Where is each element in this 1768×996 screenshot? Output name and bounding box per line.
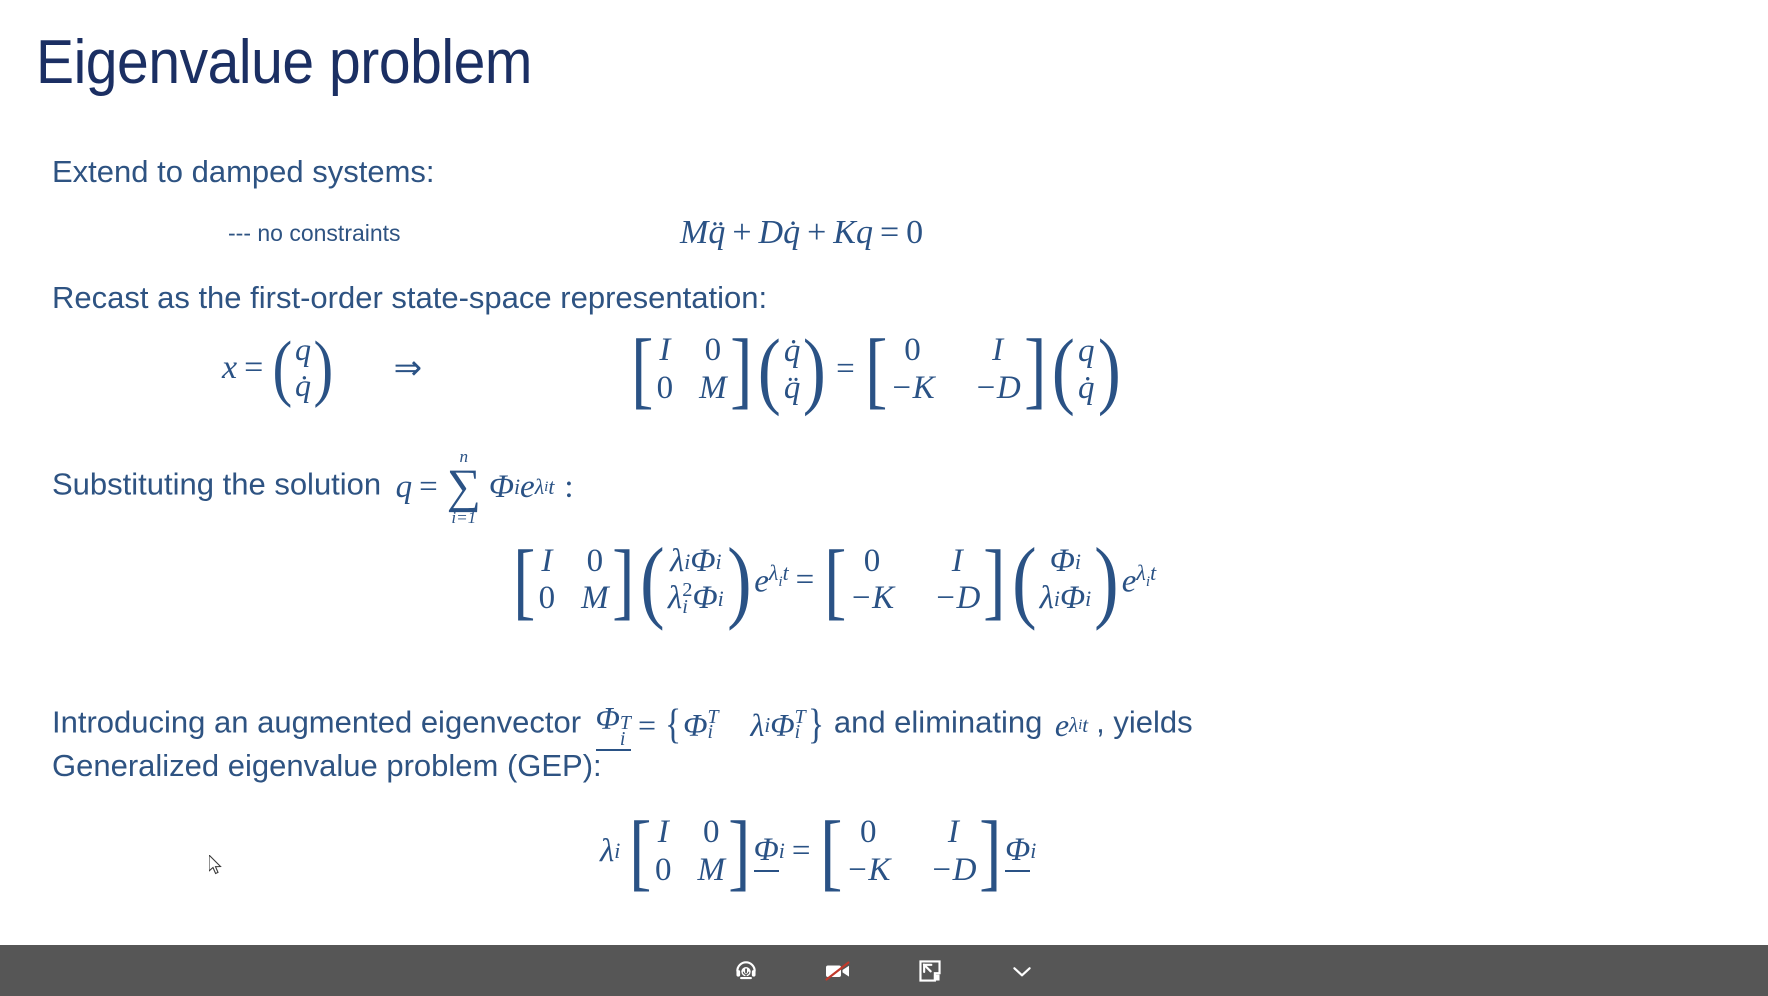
- gep-lhs-m00: I: [658, 814, 669, 852]
- ss-rhs-right-bracket: ]: [1024, 330, 1046, 409]
- implies-arrow: ⇒: [394, 348, 423, 388]
- sub-lhs-e: e: [754, 563, 769, 599]
- sub-rhs-left-bracket: [: [824, 541, 846, 620]
- state-bottom: q̇: [295, 368, 311, 404]
- meeting-toolbar: [0, 945, 1768, 996]
- text-augmented-line: Introducing an augmented eigenvector ΦTi…: [52, 700, 1193, 751]
- sub-rhs-right-bracket: ]: [983, 541, 1005, 620]
- sub-equals: =: [789, 562, 822, 599]
- eom-plus-2: +: [800, 214, 833, 252]
- equation-substituted: [ I 0 0 M ] ( λiΦi λ2iΦi ) eλit =: [510, 538, 1156, 623]
- ss-rhs-matrix: 0 I −K −D: [890, 332, 1020, 407]
- more-options-button[interactable]: [976, 945, 1068, 996]
- eom-D: D: [759, 214, 784, 252]
- aug-brace-close: }: [808, 701, 824, 749]
- gep-lhs-phi-underlined: Φ: [754, 832, 779, 872]
- sub-lhs-v1-phisub: i: [718, 587, 724, 611]
- eom-equals: =: [873, 214, 906, 252]
- equation-gep: λi [ I 0 0 M ] Φ i = [ 0 I −K −D ]: [600, 812, 1036, 891]
- sub-rhs-m11: −D: [934, 580, 980, 618]
- aug-e-t: t: [1082, 713, 1088, 738]
- ss-lhs-v1: q̈: [784, 370, 801, 407]
- state-equals: =: [237, 349, 270, 387]
- eom-K: K: [833, 214, 856, 252]
- sub-rhs-m00: 0: [864, 543, 881, 581]
- sub-lhs-m01: 0: [587, 543, 604, 581]
- subst-colon: :: [564, 469, 573, 506]
- microphone-headset-icon: [733, 958, 759, 984]
- sub-lhs-m00: I: [541, 543, 552, 581]
- share-screen-button[interactable]: [884, 945, 976, 996]
- sub-rhs-exponential: eλit: [1122, 561, 1156, 600]
- aug-t2-phi: Φ: [770, 707, 794, 744]
- ss-lhs-m10: 0: [657, 370, 674, 408]
- sub-rhs-vec-left-paren: (: [1012, 538, 1037, 623]
- sub-lhs-right-bracket: ]: [612, 541, 634, 620]
- sub-rhs-v0-phi: Φ: [1050, 543, 1075, 580]
- sub-lhs-matrix: I 0 0 M: [539, 543, 609, 618]
- text-substituting-line: Substituting the solution q = n ∑ i=1 Φi…: [52, 448, 574, 526]
- ss-rhs-v0: q: [1078, 333, 1095, 370]
- gep-rhs-m11: −D: [930, 852, 976, 890]
- equation-of-motion: Mq̈ + Dq̇ + Kq = 0: [680, 212, 923, 252]
- gep-lhs-matrix: I 0 0 M: [655, 814, 725, 889]
- aug-t2-sub: i: [795, 725, 806, 741]
- sub-rhs-e-lambda: λ: [1136, 561, 1145, 585]
- state-x: x: [222, 349, 237, 387]
- ss-rhs-m10: −K: [890, 370, 934, 408]
- gep-rhs-m00: 0: [860, 814, 877, 852]
- eom-qddot: q̈: [708, 214, 725, 252]
- sub-lhs-m11: M: [581, 580, 609, 618]
- augmented-prefix: Introducing an augmented eigenvector: [52, 705, 581, 740]
- gep-lambda: λ: [600, 833, 614, 870]
- ss-rhs-v1: q̇: [1078, 370, 1095, 407]
- sub-lhs-v0-phi: Φ: [690, 543, 715, 580]
- gep-lhs-m11: M: [698, 852, 726, 890]
- augmented-middle: and eliminating: [834, 705, 1043, 740]
- gep-lhs-m01: 0: [703, 814, 720, 852]
- ss-rhs-vec-right-paren: ): [1097, 330, 1120, 409]
- gep-lhs-m10: 0: [655, 852, 672, 890]
- gep-equals: =: [785, 833, 818, 870]
- ss-rhs-m11: −D: [975, 370, 1021, 408]
- gep-rhs-phi-sub: i: [1030, 839, 1036, 864]
- subst-e: e: [520, 469, 535, 506]
- subst-t: t: [548, 475, 554, 500]
- ss-lhs-vec-right-paren: ): [803, 330, 826, 409]
- right-paren: ): [313, 334, 333, 402]
- subst-lambda: λ: [535, 475, 544, 500]
- ss-rhs-m01: I: [992, 332, 1003, 370]
- sub-rhs-v1-phisub: i: [1085, 587, 1091, 611]
- sub-lhs-v0-lambda: λ: [670, 543, 684, 580]
- subst-equals: =: [412, 469, 445, 506]
- aug-t1-phi: Φ: [683, 707, 707, 744]
- gep-rhs-m01: I: [948, 814, 959, 852]
- sub-rhs-v1-lambda: λ: [1040, 580, 1054, 617]
- ss-lhs-vector: q̇ q̈: [784, 333, 801, 407]
- sub-lhs-vec-left-paren: (: [640, 538, 665, 623]
- sub-rhs-matrix: 0 I −K −D: [850, 543, 980, 618]
- sub-rhs-e: e: [1122, 563, 1137, 599]
- ss-lhs-right-bracket: ]: [730, 330, 752, 409]
- gep-rhs-matrix: 0 I −K −D: [846, 814, 976, 889]
- ss-equals: =: [829, 351, 862, 388]
- sub-rhs-m01: I: [952, 543, 963, 581]
- summation-symbol: n ∑ i=1: [447, 448, 481, 526]
- text-gep: Generalized eigenvalue problem (GEP):: [52, 746, 602, 786]
- aug-t1-sub: i: [708, 725, 719, 741]
- subst-q: q: [396, 469, 413, 506]
- sub-lhs-v0: λiΦi: [670, 543, 722, 580]
- ss-lhs-m01: 0: [705, 332, 722, 370]
- sub-lhs-v1-sub: i: [682, 599, 692, 616]
- ss-rhs-vec-left-paren: (: [1052, 330, 1075, 409]
- ss-lhs-vec-left-paren: (: [758, 330, 781, 409]
- ss-lhs-m11: M: [699, 370, 727, 408]
- ss-lhs-m00: I: [659, 332, 670, 370]
- note-no-constraints: --- no constraints: [228, 220, 401, 247]
- ss-lhs-v0: q̇: [784, 333, 801, 370]
- sub-rhs-e-t: t: [1150, 561, 1156, 585]
- sub-lhs-vector: λiΦi λ2iΦi: [668, 543, 724, 617]
- substituting-formula: q = n ∑ i=1 Φieλit :: [386, 467, 574, 503]
- aug-brace-open: {: [665, 701, 681, 749]
- sub-lhs-exponential: eλit: [754, 561, 788, 600]
- state-top: q: [295, 332, 311, 368]
- mouse-cursor: [209, 855, 223, 875]
- text-recast: Recast as the first-order state-space re…: [52, 278, 767, 318]
- gep-rhs-right-bracket: ]: [980, 812, 1002, 891]
- sub-rhs-v1: λiΦi: [1040, 580, 1092, 617]
- gep-rhs-phi: Φ: [1005, 832, 1030, 868]
- sub-lhs-v1-phi: Φ: [692, 580, 717, 617]
- aug-equals: =: [631, 707, 663, 744]
- sub-rhs-v0-sub: i: [1075, 550, 1081, 574]
- subst-phi: Φ: [489, 469, 514, 506]
- augmented-exponential: eλit: [1047, 704, 1096, 740]
- gep-rhs-phi-underlined: Φ: [1005, 832, 1030, 872]
- augmented-formula: ΦTi = { ΦTi λiΦTi }: [586, 704, 834, 740]
- eom-q: q: [856, 214, 873, 252]
- aug-e: e: [1055, 707, 1069, 744]
- camera-off-icon: [823, 958, 853, 984]
- sub-lhs-v1: λ2iΦi: [668, 580, 724, 617]
- mute-button[interactable]: [700, 945, 792, 996]
- state-vector-definition: x = ( q q̇ ) ⇒: [222, 332, 422, 404]
- sub-rhs-v1-phi: Φ: [1060, 580, 1085, 617]
- eom-zero: 0: [906, 214, 923, 252]
- gep-rhs-left-bracket: [: [821, 812, 843, 891]
- eom-M: M: [680, 214, 708, 252]
- sub-rhs-vec-right-paren: ): [1094, 538, 1119, 623]
- ss-lhs-matrix: I 0 0 M: [657, 332, 727, 407]
- sum-sigma: ∑: [447, 465, 481, 509]
- gep-lhs-left-bracket: [: [630, 812, 652, 891]
- augmented-phi-underlined: ΦTi: [596, 700, 631, 751]
- sub-lhs-left-bracket: [: [513, 541, 535, 620]
- chevron-down-icon: [1009, 958, 1035, 984]
- sub-rhs-vector: Φi λiΦi: [1040, 543, 1092, 617]
- sub-lhs-m10: 0: [539, 580, 556, 618]
- left-paren: (: [273, 334, 293, 402]
- equation-state-space: [ I 0 0 M ] ( q̇ q̈ ) = [ 0 I −K −D ]: [628, 330, 1123, 409]
- sub-lhs-v0-phisub: i: [715, 550, 721, 574]
- aug-t2-lambda: λ: [751, 707, 765, 744]
- sub-lhs-v1-lambda: λ: [668, 580, 682, 617]
- aug-phi: Φ: [596, 700, 620, 736]
- gep-lhs-right-bracket: ]: [728, 812, 750, 891]
- ss-lhs-left-bracket: [: [631, 330, 653, 409]
- eom-qdot: q̇: [783, 214, 800, 252]
- sub-lhs-e-lambda: λ: [769, 561, 778, 585]
- gep-lhs-phi: Φ: [754, 832, 779, 868]
- ss-rhs-vector: q q̇: [1078, 333, 1095, 407]
- share-screen-icon: [917, 958, 943, 984]
- stop-video-button[interactable]: [792, 945, 884, 996]
- gep-rhs-m10: −K: [846, 852, 890, 890]
- sub-rhs-m10: −K: [850, 580, 894, 618]
- aug-e-lambda: λ: [1069, 713, 1078, 738]
- ss-rhs-left-bracket: [: [865, 330, 887, 409]
- substituting-prefix: Substituting the solution: [52, 467, 381, 502]
- aug-phi-sub: i: [620, 732, 631, 748]
- ss-rhs-m00: 0: [904, 332, 921, 370]
- augmented-suffix: , yields: [1096, 705, 1192, 740]
- eom-plus-1: +: [725, 214, 758, 252]
- page-title: Eigenvalue problem: [36, 32, 532, 94]
- sub-lhs-vec-right-paren: ): [727, 538, 752, 623]
- sum-lower-limit: i=1: [451, 509, 476, 526]
- gep-lambda-sub: i: [614, 839, 620, 864]
- presentation-slide: Eigenvalue problem Extend to damped syst…: [0, 0, 1768, 945]
- sub-rhs-v0: Φi: [1050, 543, 1081, 580]
- text-extend-damped: Extend to damped systems:: [52, 152, 435, 192]
